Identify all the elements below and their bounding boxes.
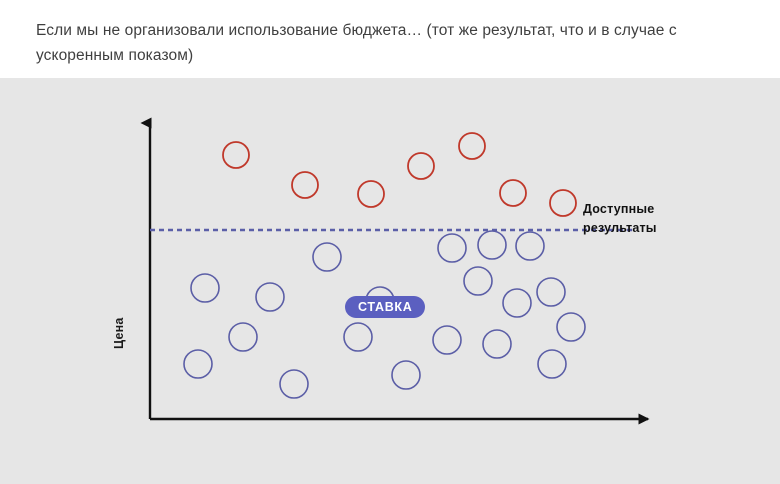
data-point-unavailable-18 <box>557 313 585 341</box>
data-point-available-1 <box>223 142 249 168</box>
data-point-unavailable-13 <box>464 267 492 295</box>
data-point-unavailable-12 <box>516 232 544 260</box>
threshold-badge: СТАВКА <box>345 296 425 318</box>
data-point-unavailable-15 <box>483 330 511 358</box>
data-point-unavailable-14 <box>433 326 461 354</box>
legend-line-1: Доступные <box>583 200 657 219</box>
data-point-unavailable-6 <box>313 243 341 271</box>
scatter-plot <box>0 78 780 484</box>
data-point-unavailable-4 <box>184 350 212 378</box>
data-point-unavailable-1 <box>191 274 219 302</box>
data-point-unavailable-2 <box>256 283 284 311</box>
data-point-unavailable-17 <box>537 278 565 306</box>
legend: Доступные результаты <box>583 200 657 238</box>
data-point-available-3 <box>358 181 384 207</box>
data-point-available-2 <box>292 172 318 198</box>
data-point-unavailable-19 <box>538 350 566 378</box>
data-point-available-7 <box>550 190 576 216</box>
chart-panel: СТАВКА Доступные результаты Цена Время <box>0 78 780 484</box>
slide-root: Если мы не организовали использование бю… <box>0 0 780 484</box>
page-title: Если мы не организовали использование бю… <box>36 18 748 68</box>
data-point-unavailable-11 <box>478 231 506 259</box>
data-point-unavailable-10 <box>438 234 466 262</box>
data-point-unavailable-3 <box>229 323 257 351</box>
data-point-unavailable-5 <box>280 370 308 398</box>
title-band: Если мы не организовали использование бю… <box>0 0 780 78</box>
data-point-unavailable-9 <box>392 361 420 389</box>
data-point-available-4 <box>408 153 434 179</box>
y-axis-label: Цена <box>112 317 126 349</box>
legend-line-2: результаты <box>583 219 657 238</box>
data-point-available-6 <box>500 180 526 206</box>
data-point-unavailable-8 <box>344 323 372 351</box>
data-point-unavailable-16 <box>503 289 531 317</box>
series-available-results <box>223 133 576 216</box>
data-point-available-5 <box>459 133 485 159</box>
